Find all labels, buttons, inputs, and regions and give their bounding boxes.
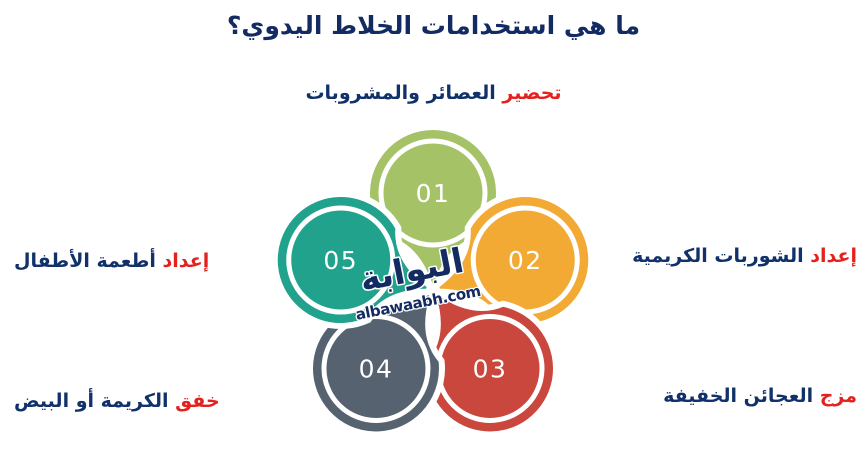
- pin-label-05-rest: أطعمة الأطفال: [14, 250, 156, 272]
- pin-label-04-highlight: خفق: [175, 390, 220, 412]
- pin-label-03: مزج العجائن الخفيفة: [580, 385, 857, 409]
- pin-label-03-rest: العجائن الخفيفة: [663, 385, 813, 407]
- pin-number-03: 03: [473, 354, 508, 383]
- pin-number-02: 02: [508, 246, 543, 275]
- infographic-canvas: ما هي استخدامات الخلاط اليدوي؟ 010203040…: [0, 0, 867, 470]
- pin-wheel-svg: 0102030405: [216, 116, 650, 470]
- page-title: ما هي استخدامات الخلاط اليدوي؟: [0, 11, 867, 40]
- pin-label-01-rest: العصائر والمشروبات: [305, 82, 495, 104]
- pin-label-02-rest: الشوربات الكريمية: [632, 245, 803, 267]
- pin-label-04: خفق الكريمة أو البيض: [14, 390, 354, 414]
- pin-label-03-highlight: مزج: [820, 385, 857, 407]
- pin-label-01: تحضير العصائر والمشروبات: [0, 82, 867, 106]
- pin-label-02-highlight: إعداد: [810, 245, 857, 267]
- pin-label-04-rest: الكريمة أو البيض: [14, 390, 169, 412]
- pin-label-01-highlight: تحضير: [502, 82, 561, 104]
- pin-label-05-highlight: إعداد: [163, 250, 210, 272]
- pin-label-02: إعداد الشوربات الكريمية: [595, 245, 857, 269]
- radial-pin-wheel: 0102030405: [216, 116, 650, 470]
- pin-number-05: 05: [323, 246, 358, 275]
- pin-label-05: إعداد أطعمة الأطفال: [14, 250, 246, 274]
- pin-number-04: 04: [359, 354, 394, 383]
- pin-number-01: 01: [416, 179, 451, 208]
